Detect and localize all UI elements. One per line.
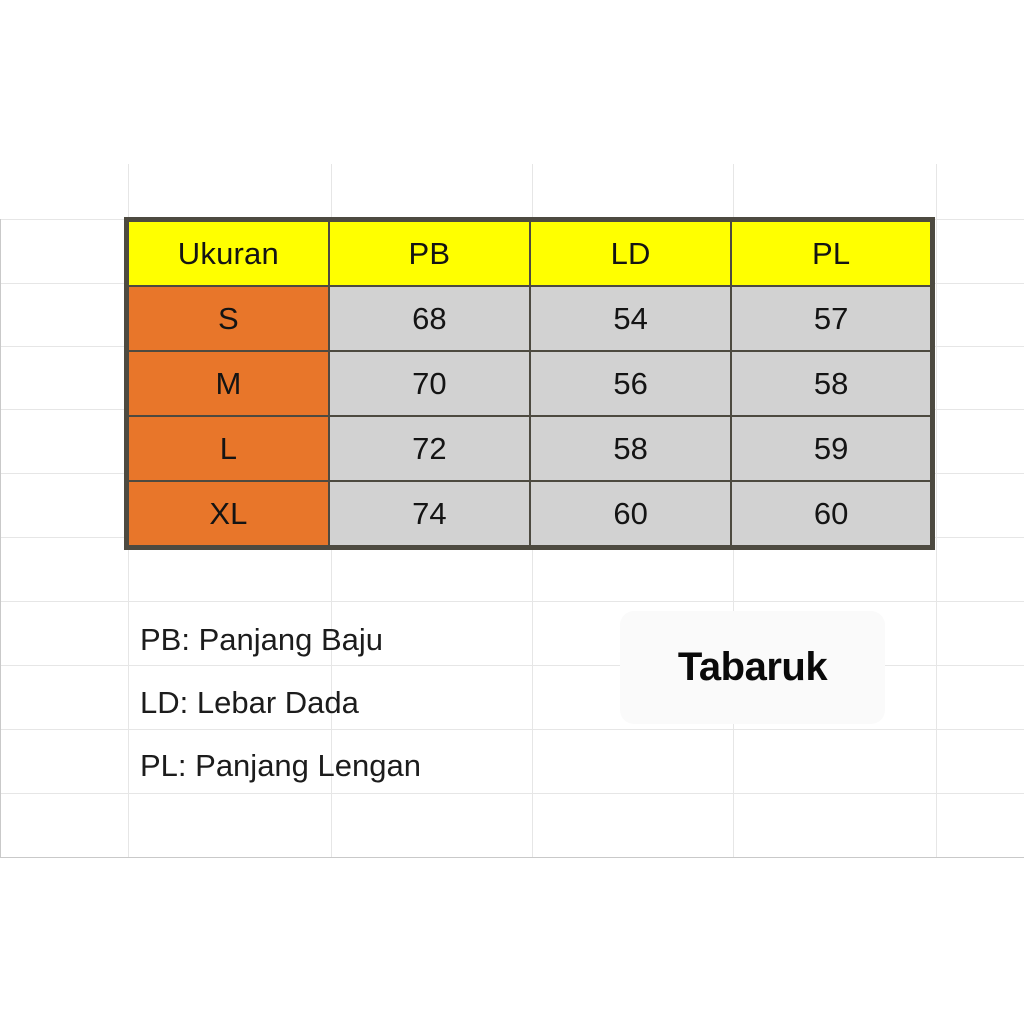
- brand-name: Tabaruk: [678, 645, 827, 690]
- column-header-ukuran: Ukuran: [127, 220, 329, 287]
- size-label-xl: XL: [127, 481, 329, 548]
- cell-s-pb: 68: [329, 286, 530, 351]
- cell-m-pb: 70: [329, 351, 530, 416]
- column-header-ld: LD: [530, 220, 731, 287]
- cell-l-pl: 59: [731, 416, 932, 481]
- cell-xl-pl: 60: [731, 481, 932, 548]
- cell-s-pl: 57: [731, 286, 932, 351]
- cell-xl-ld: 60: [530, 481, 731, 548]
- grid-line-horizontal: [0, 857, 1024, 858]
- column-header-pl: PL: [731, 220, 932, 287]
- cell-xl-pb: 74: [329, 481, 530, 548]
- size-label-l: L: [127, 416, 329, 481]
- table-row: M 70 56 58: [127, 351, 933, 416]
- measurement-legend: PB: Panjang Baju LD: Lebar Dada PL: Panj…: [140, 608, 610, 797]
- legend-line-pl: PL: Panjang Lengan: [140, 734, 610, 797]
- size-chart-image: Ukuran PB LD PL S 68 54 57 M 70 56 58 L …: [0, 0, 1024, 1024]
- cell-m-ld: 56: [530, 351, 731, 416]
- cell-l-pb: 72: [329, 416, 530, 481]
- table-row: L 72 58 59: [127, 416, 933, 481]
- grid-line-vertical: [936, 164, 937, 857]
- grid-line-horizontal: [0, 601, 1024, 602]
- brand-badge: Tabaruk: [620, 611, 885, 724]
- column-header-pb: PB: [329, 220, 530, 287]
- legend-line-ld: LD: Lebar Dada: [140, 671, 610, 734]
- table-header-row: Ukuran PB LD PL: [127, 220, 933, 287]
- cell-s-ld: 54: [530, 286, 731, 351]
- size-label-s: S: [127, 286, 329, 351]
- grid-line-vertical: [0, 219, 1, 857]
- table-row: S 68 54 57: [127, 286, 933, 351]
- size-label-m: M: [127, 351, 329, 416]
- cell-l-ld: 58: [530, 416, 731, 481]
- table-row: XL 74 60 60: [127, 481, 933, 548]
- cell-m-pl: 58: [731, 351, 932, 416]
- size-chart-table: Ukuran PB LD PL S 68 54 57 M 70 56 58 L …: [124, 217, 935, 550]
- legend-line-pb: PB: Panjang Baju: [140, 608, 610, 671]
